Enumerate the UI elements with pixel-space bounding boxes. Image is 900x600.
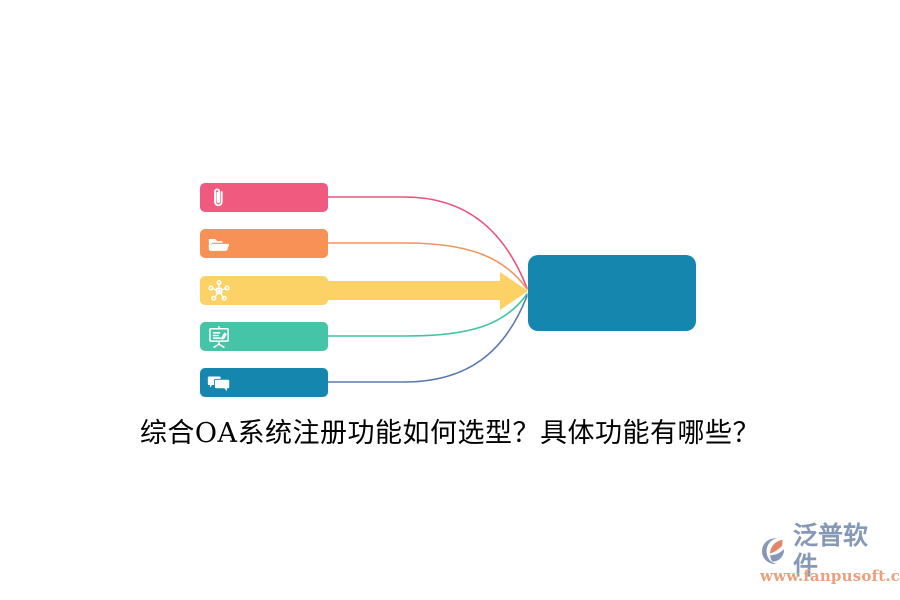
diagram-svg	[0, 0, 900, 420]
converging-diagram	[0, 0, 900, 420]
brand-url: www.fanpusoft.com	[760, 567, 892, 585]
page-title: 综合OA系统注册功能如何选型？具体功能有哪些？	[0, 414, 900, 454]
source-bar-4[interactable]	[200, 322, 328, 351]
source-bar-2[interactable]	[200, 229, 328, 258]
target-node[interactable]	[528, 255, 696, 331]
emphasis-arrow	[328, 272, 528, 310]
brand-watermark: 泛普软件 www.fanpusoft.com	[760, 534, 892, 590]
source-bar-3[interactable]	[200, 276, 328, 305]
connector-line-5	[328, 296, 527, 382]
brand-row: 泛普软件	[760, 534, 892, 568]
connector-line-4	[328, 294, 527, 336]
source-bars	[200, 183, 328, 397]
source-bar-5[interactable]	[200, 368, 328, 397]
fanpu-logo-icon	[760, 536, 790, 566]
source-bar-1[interactable]	[200, 183, 328, 212]
page-canvas: 综合OA系统注册功能如何选型？具体功能有哪些？ 泛普软件 www.fanpuso…	[0, 0, 900, 600]
